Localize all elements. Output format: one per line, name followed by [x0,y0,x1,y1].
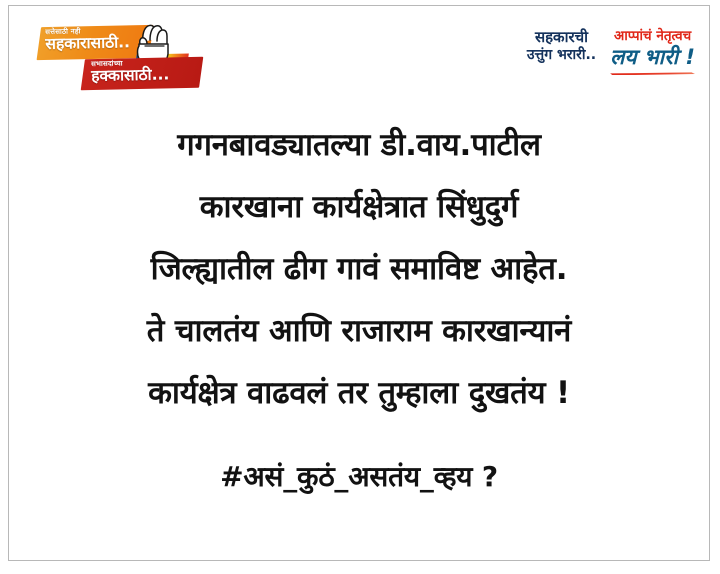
message-line-3: जिल्ह्यातील ढीग गावं समाविष्ट आहेत. [9,238,709,300]
poster-card: सत्तेसाठी नही सहकारासाठी.. [8,5,710,561]
left-logo: सत्तेसाठी नही सहकारासाठी.. [31,24,211,96]
right-logo-right-line2: लय भारी ! [610,45,695,70]
right-logo-left-line2: उत्तुंग भरारी.. [527,47,596,65]
poster-message: गगनबावड्यातल्या डी.वाय.पाटील कारखाना कार… [9,114,709,508]
right-logo: सहकारची उत्तुंग भरारी.. आप्पांचं नेतृत्व… [527,28,695,88]
message-line-1: गगनबावड्यातल्या डी.वाय.पाटील [9,114,709,176]
right-logo-right-line1: आप्पांचं नेतृत्वच [610,28,695,44]
message-hashtag: #असं_कुठं_असतंय_व्हय ? [9,446,709,508]
poster-header: सत्तेसाठी नही सहकारासाठी.. [9,6,709,106]
right-logo-left-block: सहकारची उत्तुंग भरारी.. [527,28,596,64]
red-banner-inner: सभासदांच्या हक्कासाठी... [83,57,202,85]
message-line-4: ते चालतंय आणि राजाराम कारखान्यानं [9,300,709,362]
message-line-2: कारखाना कार्यक्षेत्रात सिंधुदुर्ग [9,176,709,238]
red-banner-big-text: हक्कासाठी... [91,67,202,85]
right-logo-right-block: आप्पांचं नेतृत्वच लय भारी ! [610,28,695,75]
right-logo-left-line1: सहकारची [527,28,596,47]
right-logo-underline [610,72,695,75]
message-line-5: कार्यक्षेत्र वाढवलं तर तुम्हाला दुखतंय ! [9,362,709,424]
red-banner: सभासदांच्या हक्कासाठी... [81,57,204,90]
